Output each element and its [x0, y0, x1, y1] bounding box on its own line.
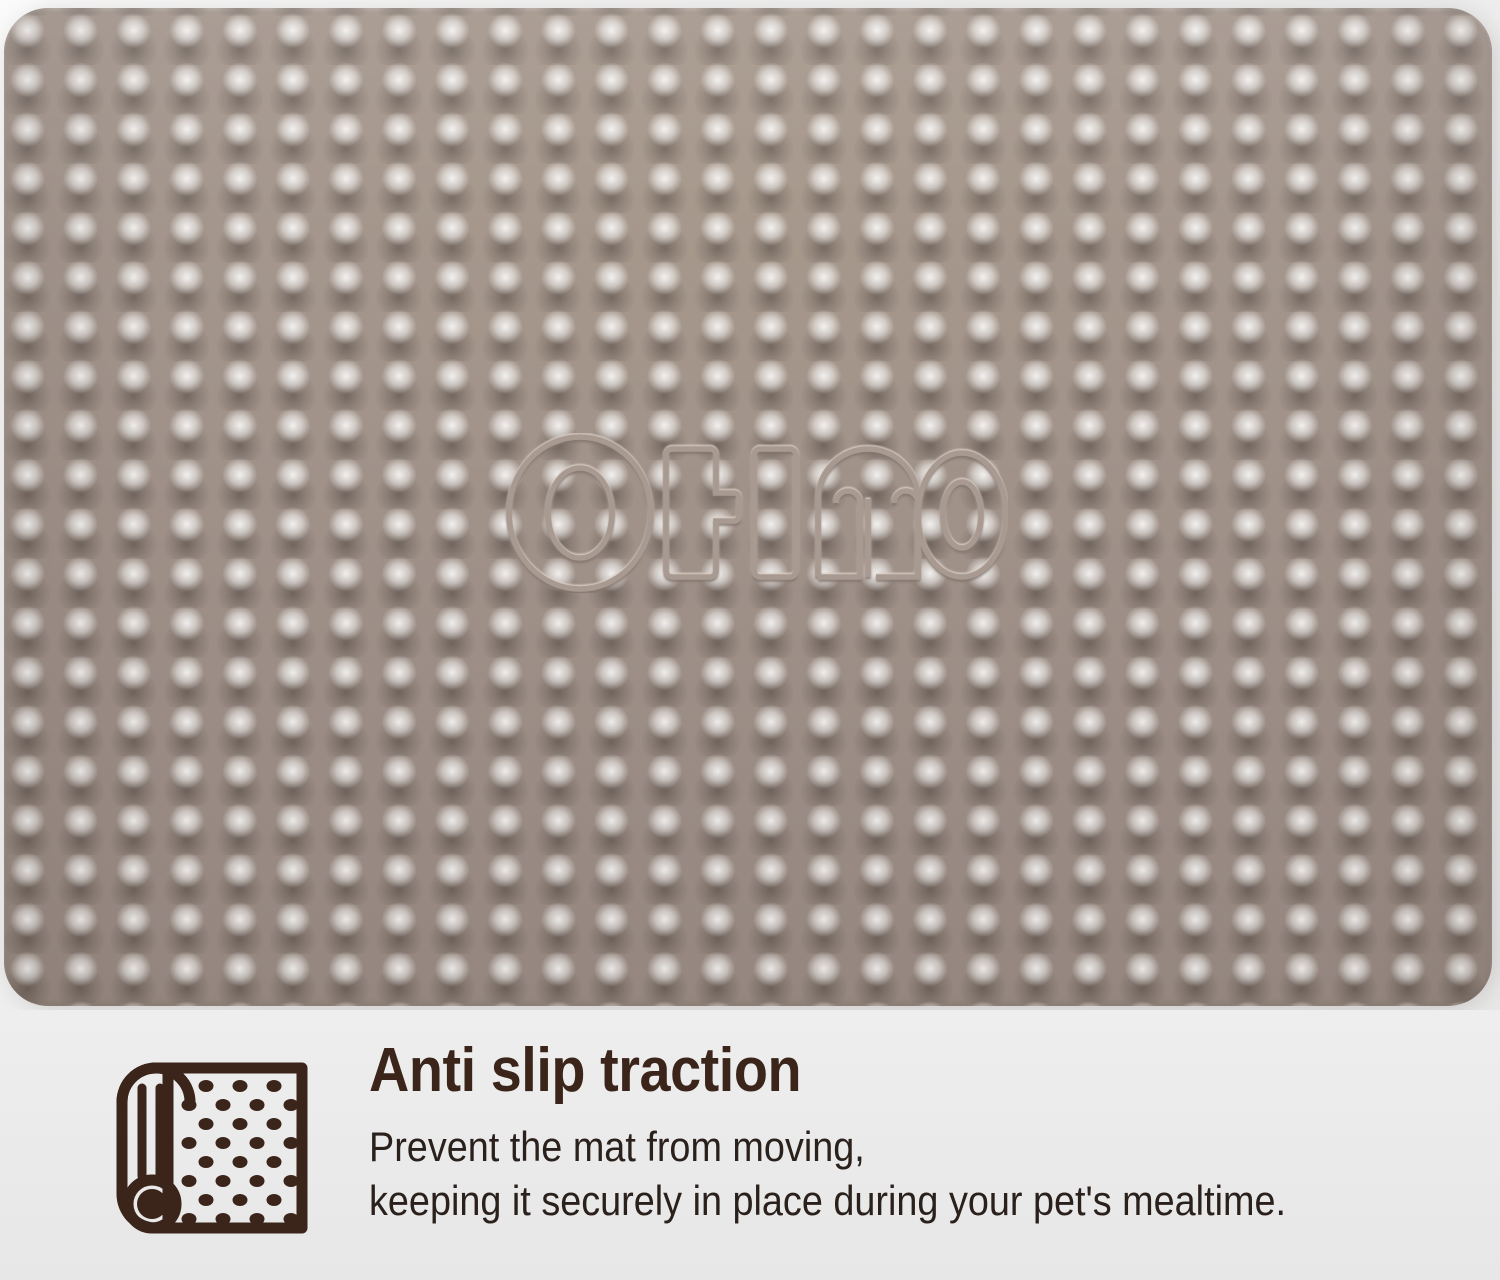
pet-feeding-mat — [4, 8, 1492, 1006]
feature-title: Anti slip traction — [369, 1036, 1350, 1106]
product-photo — [0, 0, 1500, 1010]
feature-description: Prevent the mat from moving, keeping it … — [369, 1120, 1350, 1228]
embossed-brand-logo — [502, 433, 1008, 593]
feature-caption-text: Anti slip traction Prevent the mat from … — [369, 1036, 1459, 1228]
product-feature-image: Anti slip traction Prevent the mat from … — [0, 0, 1500, 1280]
feature-description-line-2: keeping it securely in place during your… — [369, 1174, 1350, 1228]
rolled-mat-with-dots-icon — [116, 1036, 312, 1244]
feature-description-line-1: Prevent the mat from moving, — [369, 1120, 1350, 1174]
